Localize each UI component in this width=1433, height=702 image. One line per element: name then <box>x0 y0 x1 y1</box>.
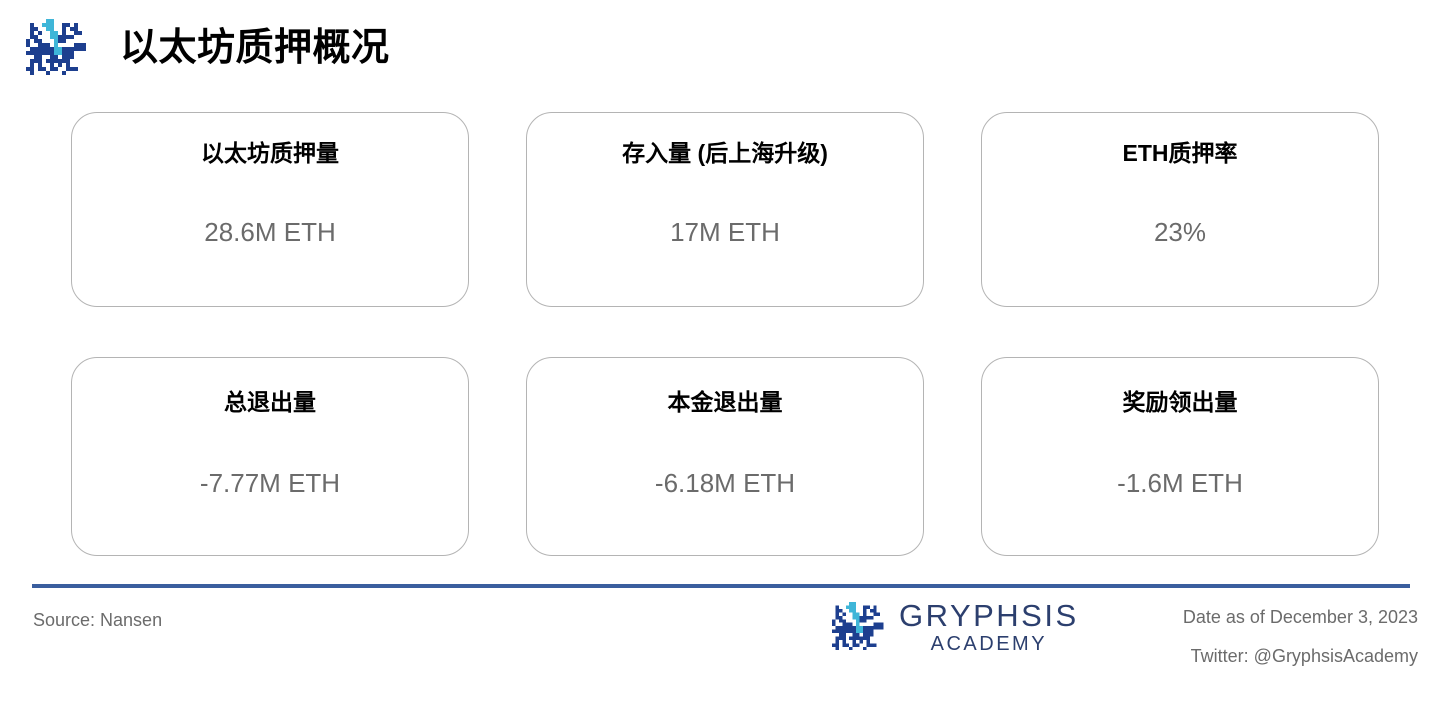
stat-card-title: 以太坊质押量 <box>72 139 468 168</box>
gryphsis-dragon-logo-icon <box>832 602 887 652</box>
stat-card-value: -1.6M ETH <box>982 468 1378 499</box>
twitter-label: Twitter: @GryphsisAcademy <box>1183 647 1418 665</box>
page-header: 以太坊质押概况 <box>0 0 1433 96</box>
brand-wordmark: GRYPHSIS ACADEMY <box>899 600 1079 655</box>
page-title: 以太坊质押概况 <box>120 29 390 67</box>
stat-card-value: 17M ETH <box>527 217 923 248</box>
footer-brand-logo: GRYPHSIS ACADEMY <box>832 600 1079 655</box>
brand-wordmark-main: GRYPHSIS <box>899 600 1079 633</box>
page-footer: Source: Nansen <box>0 590 1433 702</box>
brand-wordmark-sub: ACADEMY <box>931 633 1047 655</box>
footer-meta: Date as of December 3, 2023 Twitter: @Gr… <box>1183 608 1418 665</box>
stat-card: 本金退出量 -6.18M ETH <box>526 357 924 556</box>
source-label: Source: Nansen <box>33 610 162 631</box>
stat-card-title: ETH质押率 <box>982 139 1378 168</box>
stat-card-title: 总退出量 <box>72 388 468 417</box>
stat-card: ETH质押率 23% <box>981 112 1379 307</box>
stat-card-title: 存入量 (后上海升级) <box>527 139 923 168</box>
stat-card-value: 23% <box>982 217 1378 248</box>
date-label: Date as of December 3, 2023 <box>1183 608 1418 626</box>
stat-card: 奖励领出量 -1.6M ETH <box>981 357 1379 556</box>
stat-card-title: 本金退出量 <box>527 388 923 417</box>
stat-card-value: -7.77M ETH <box>72 468 468 499</box>
gryphsis-dragon-logo-icon <box>26 19 90 77</box>
stat-card-value: 28.6M ETH <box>72 217 468 248</box>
footer-divider <box>32 584 1410 588</box>
stat-card-title: 奖励领出量 <box>982 388 1378 417</box>
stat-card-grid: 以太坊质押量 28.6M ETH 存入量 (后上海升级) 17M ETH ETH… <box>71 112 1379 556</box>
stat-card: 以太坊质押量 28.6M ETH <box>71 112 469 307</box>
stat-card: 存入量 (后上海升级) 17M ETH <box>526 112 924 307</box>
stat-card-value: -6.18M ETH <box>527 468 923 499</box>
stat-card: 总退出量 -7.77M ETH <box>71 357 469 556</box>
